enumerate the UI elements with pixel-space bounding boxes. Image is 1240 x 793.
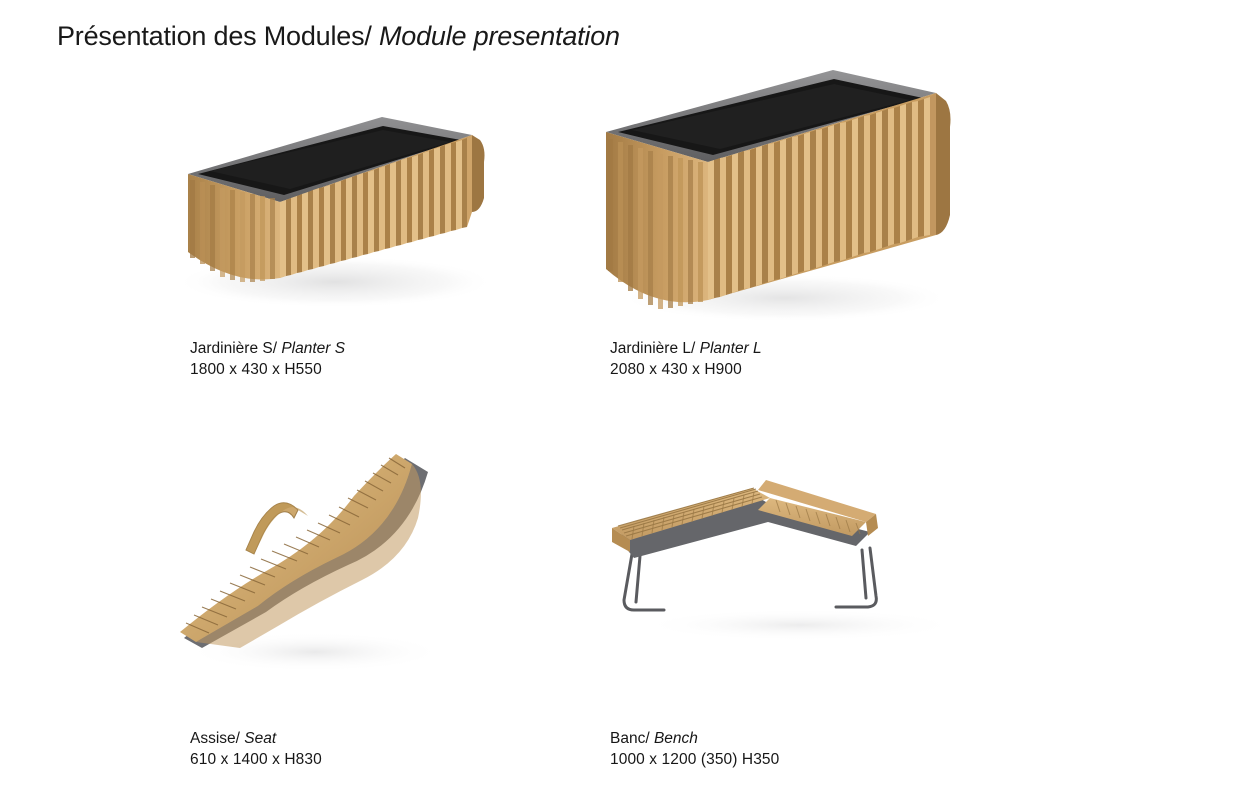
caption-bench: Banc/ Bench 1000 x 1200 (350) H350	[610, 728, 779, 770]
product-dimensions: 610 x 1400 x H830	[190, 749, 322, 770]
caption-seat: Assise/ Seat 610 x 1400 x H830	[190, 728, 322, 770]
product-cell-seat[interactable]: Assise/ Seat 610 x 1400 x H830	[150, 440, 570, 785]
lounge-seat-icon	[150, 440, 550, 705]
product-dimensions: 1800 x 430 x H550	[190, 359, 345, 380]
product-cell-bench[interactable]: Banc/ Bench 1000 x 1200 (350) H350	[580, 440, 1020, 785]
product-cell-planter-l[interactable]: Jardinière L/ Planter L 2080 x 430 x H90…	[580, 55, 1010, 400]
angled-bench-figure	[580, 440, 1020, 705]
product-name-fr: Assise	[190, 730, 236, 747]
planter-large-icon	[580, 55, 1000, 330]
product-grid: Jardinière S/ Planter S 1800 x 430 x H55…	[0, 0, 1240, 793]
product-name-separator: /	[645, 730, 654, 747]
product-name-en: Planter L	[700, 340, 762, 357]
catalogue-page: Présentation des Modules/ Module present…	[0, 0, 1240, 793]
product-dimensions: 2080 x 430 x H900	[610, 359, 762, 380]
product-dimensions: 1000 x 1200 (350) H350	[610, 749, 779, 770]
product-name-en: Seat	[244, 730, 276, 747]
product-name-en: Bench	[654, 730, 698, 747]
angled-bench-icon	[580, 440, 1000, 705]
planter-large-figure	[580, 55, 1010, 330]
product-name-fr: Jardinière L	[610, 340, 691, 357]
product-name-fr: Banc	[610, 730, 645, 747]
planter-small-figure	[150, 70, 570, 330]
lounge-seat-figure	[150, 440, 570, 705]
product-name-separator: /	[236, 730, 245, 747]
product-name-separator: /	[691, 340, 700, 357]
planter-small-icon	[150, 70, 550, 330]
product-name-fr: Jardinière S	[190, 340, 273, 357]
product-name-en: Planter S	[281, 340, 345, 357]
caption-planter-s: Jardinière S/ Planter S 1800 x 430 x H55…	[190, 338, 345, 380]
product-cell-planter-s[interactable]: Jardinière S/ Planter S 1800 x 430 x H55…	[150, 70, 570, 400]
caption-planter-l: Jardinière L/ Planter L 2080 x 430 x H90…	[610, 338, 762, 380]
